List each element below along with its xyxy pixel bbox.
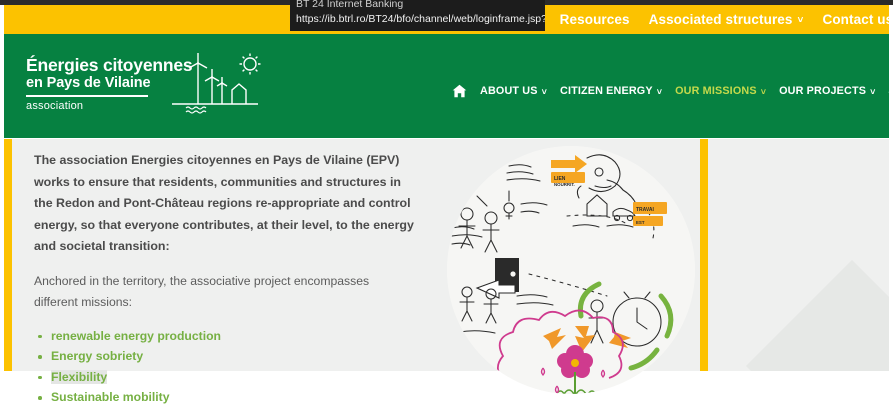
chevron-down-icon: ˅	[761, 88, 766, 97]
nav-home-link[interactable]	[452, 84, 467, 98]
main-nav: ABOUT US ˅ CITIZEN ENERGY ˅ OUR MISSIONS…	[452, 80, 893, 102]
utility-nav-associated-structures-label: Associated structures	[649, 12, 793, 27]
nav-join-us-label: JOIN US	[889, 85, 893, 97]
utility-nav-items: News Resources Associated structures ˅ C…	[505, 5, 893, 34]
nav-about-us[interactable]: ABOUT US ˅	[480, 85, 547, 97]
chevron-down-icon: ˅	[542, 88, 547, 97]
tooltip-url: https://ib.btrl.ro/BT24/bfo/channel/web/…	[296, 13, 539, 26]
nav-our-missions-label: OUR MISSIONS	[675, 85, 757, 97]
illustration-container: LIEN NOURRIT. TRAVAI EST	[447, 146, 695, 394]
utility-nav-resources[interactable]: Resources	[560, 12, 630, 27]
svg-text:NOURRIT.: NOURRIT.	[554, 182, 575, 187]
browser-status-tooltip: BT 24 Internet Banking https://ib.btrl.r…	[290, 0, 545, 31]
nav-citizen-energy[interactable]: CITIZEN ENERGY ˅	[560, 85, 662, 97]
mission-link-2: Flexibility	[51, 370, 107, 384]
nav-our-projects-label: OUR PROJECTS	[779, 85, 866, 97]
page-root: News Resources Associated structures ˅ C…	[0, 0, 893, 411]
accent-rail-right	[700, 139, 708, 371]
chevron-down-icon: ˅	[657, 88, 662, 97]
list-item[interactable]: Support and advice to communities	[34, 408, 414, 411]
chevron-down-icon: ˅	[798, 16, 804, 26]
mission-intro-paragraph: Anchored in the territory, the associati…	[34, 271, 414, 313]
list-item[interactable]: Flexibility	[34, 367, 414, 388]
mission-link-3: Sustainable mobility	[51, 390, 170, 404]
nav-join-us[interactable]: JOIN US	[889, 85, 893, 97]
site-logo[interactable]: Énergies citoyennes en Pays de Vilaine a…	[26, 55, 236, 125]
accent-rail-left	[4, 139, 12, 371]
svg-text:EST: EST	[636, 220, 645, 225]
nav-our-missions[interactable]: OUR MISSIONS ˅	[675, 85, 766, 97]
mission-lede: The association Energies citoyennes en P…	[34, 150, 414, 258]
utility-nav-resources-label: Resources	[560, 12, 630, 27]
utility-nav-contact-us-label: Contact us	[822, 12, 893, 27]
mission-link-0: renewable energy production	[51, 329, 221, 343]
mission-text-column: The association Energies citoyennes en P…	[34, 150, 414, 411]
svg-text:TRAVAI: TRAVAI	[636, 207, 654, 213]
list-item[interactable]: Sustainable mobility	[34, 387, 414, 408]
nav-our-projects[interactable]: OUR PROJECTS ˅	[779, 85, 875, 97]
mission-list: renewable energy production Energy sobri…	[34, 326, 414, 411]
nav-citizen-energy-label: CITIZEN ENERGY	[560, 85, 653, 97]
hand-drawn-mindmap-sketch: LIEN NOURRIT. TRAVAI EST	[447, 146, 695, 394]
list-item[interactable]: renewable energy production	[34, 326, 414, 347]
mission-link-1: Energy sobriety	[51, 349, 143, 363]
tooltip-title: BT 24 Internet Banking	[296, 0, 539, 10]
decorative-diamond	[746, 260, 889, 371]
wind-turbines-sun-house-icon	[172, 52, 262, 118]
utility-nav-associated-structures[interactable]: Associated structures ˅	[649, 12, 804, 27]
nav-about-us-label: ABOUT US	[480, 85, 538, 97]
utility-nav-contact-us[interactable]: Contact us	[822, 12, 893, 27]
chevron-down-icon: ˅	[870, 88, 875, 97]
list-item[interactable]: Energy sobriety	[34, 346, 414, 367]
logo-divider	[26, 95, 148, 97]
home-icon	[452, 84, 467, 98]
